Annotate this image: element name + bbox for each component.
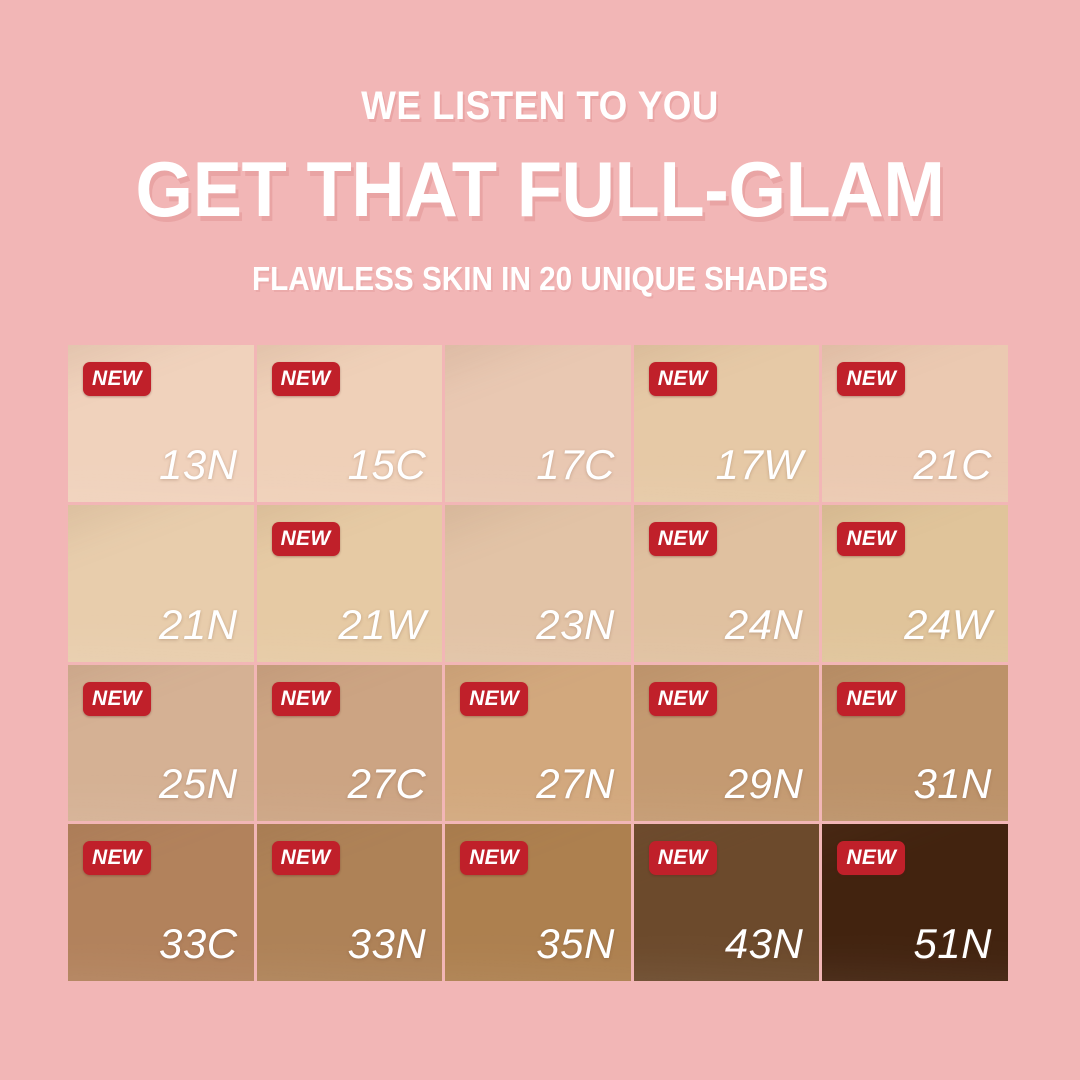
shade-swatch-15c[interactable]: NEW15C (257, 345, 443, 502)
shade-label: 23N (536, 604, 615, 646)
new-badge: NEW (649, 522, 717, 556)
shade-label: 21N (159, 604, 238, 646)
shade-label: 17C (536, 444, 615, 486)
new-badge: NEW (837, 522, 905, 556)
shade-swatch-43n[interactable]: NEW43N (634, 824, 820, 981)
new-badge: NEW (83, 841, 151, 875)
shade-swatch-25n[interactable]: NEW25N (68, 665, 254, 822)
new-badge: NEW (837, 682, 905, 716)
shade-label: 35N (536, 923, 615, 965)
shade-label: 15C (348, 444, 427, 486)
shade-label: 27C (348, 763, 427, 805)
shade-swatch-27n[interactable]: NEW27N (445, 665, 631, 822)
shade-label: 33N (348, 923, 427, 965)
new-badge: NEW (649, 362, 717, 396)
eyebrow-text: WE LISTEN TO YOU (43, 86, 1037, 126)
shade-label: 31N (913, 763, 992, 805)
shade-swatch-17c[interactable]: NEW17C (445, 345, 631, 502)
shade-grid: NEW13NNEW15CNEW17CNEW17WNEW21CNEW21NNEW2… (68, 345, 1008, 981)
subtitle-text: FLAWLESS SKIN IN 20 UNIQUE SHADES (54, 262, 1026, 295)
shade-swatch-33n[interactable]: NEW33N (257, 824, 443, 981)
shade-swatch-23n[interactable]: NEW23N (445, 505, 631, 662)
shade-label: 13N (159, 444, 238, 486)
shade-label: 51N (913, 923, 992, 965)
new-badge: NEW (649, 682, 717, 716)
shade-label: 21W (338, 604, 426, 646)
new-badge: NEW (460, 841, 528, 875)
shade-swatch-35n[interactable]: NEW35N (445, 824, 631, 981)
shade-label: 33C (159, 923, 238, 965)
shade-swatch-13n[interactable]: NEW13N (68, 345, 254, 502)
new-badge: NEW (272, 841, 340, 875)
shade-label: 17W (716, 444, 804, 486)
new-badge: NEW (272, 682, 340, 716)
new-badge: NEW (649, 841, 717, 875)
shade-swatch-24w[interactable]: NEW24W (822, 505, 1008, 662)
shade-swatch-21n[interactable]: NEW21N (68, 505, 254, 662)
shade-swatch-17w[interactable]: NEW17W (634, 345, 820, 502)
header-block: WE LISTEN TO YOU GET THAT FULL-GLAM FLAW… (0, 0, 1080, 295)
shade-label: 27N (536, 763, 615, 805)
shade-label: 24W (904, 604, 992, 646)
shade-label: 25N (159, 763, 238, 805)
shade-label: 21C (913, 444, 992, 486)
shade-label: 24N (725, 604, 804, 646)
new-badge: NEW (460, 682, 528, 716)
new-badge: NEW (83, 682, 151, 716)
shade-swatch-24n[interactable]: NEW24N (634, 505, 820, 662)
shade-swatch-51n[interactable]: NEW51N (822, 824, 1008, 981)
new-badge: NEW (83, 362, 151, 396)
new-badge: NEW (837, 362, 905, 396)
shade-label: 43N (725, 923, 804, 965)
shade-label: 29N (725, 763, 804, 805)
new-badge: NEW (272, 362, 340, 396)
shade-swatch-31n[interactable]: NEW31N (822, 665, 1008, 822)
shade-swatch-33c[interactable]: NEW33C (68, 824, 254, 981)
shade-swatch-21c[interactable]: NEW21C (822, 345, 1008, 502)
shade-swatch-27c[interactable]: NEW27C (257, 665, 443, 822)
shade-swatch-21w[interactable]: NEW21W (257, 505, 443, 662)
shade-swatch-29n[interactable]: NEW29N (634, 665, 820, 822)
page-title: GET THAT FULL-GLAM (27, 150, 1053, 228)
new-badge: NEW (837, 841, 905, 875)
new-badge: NEW (272, 522, 340, 556)
